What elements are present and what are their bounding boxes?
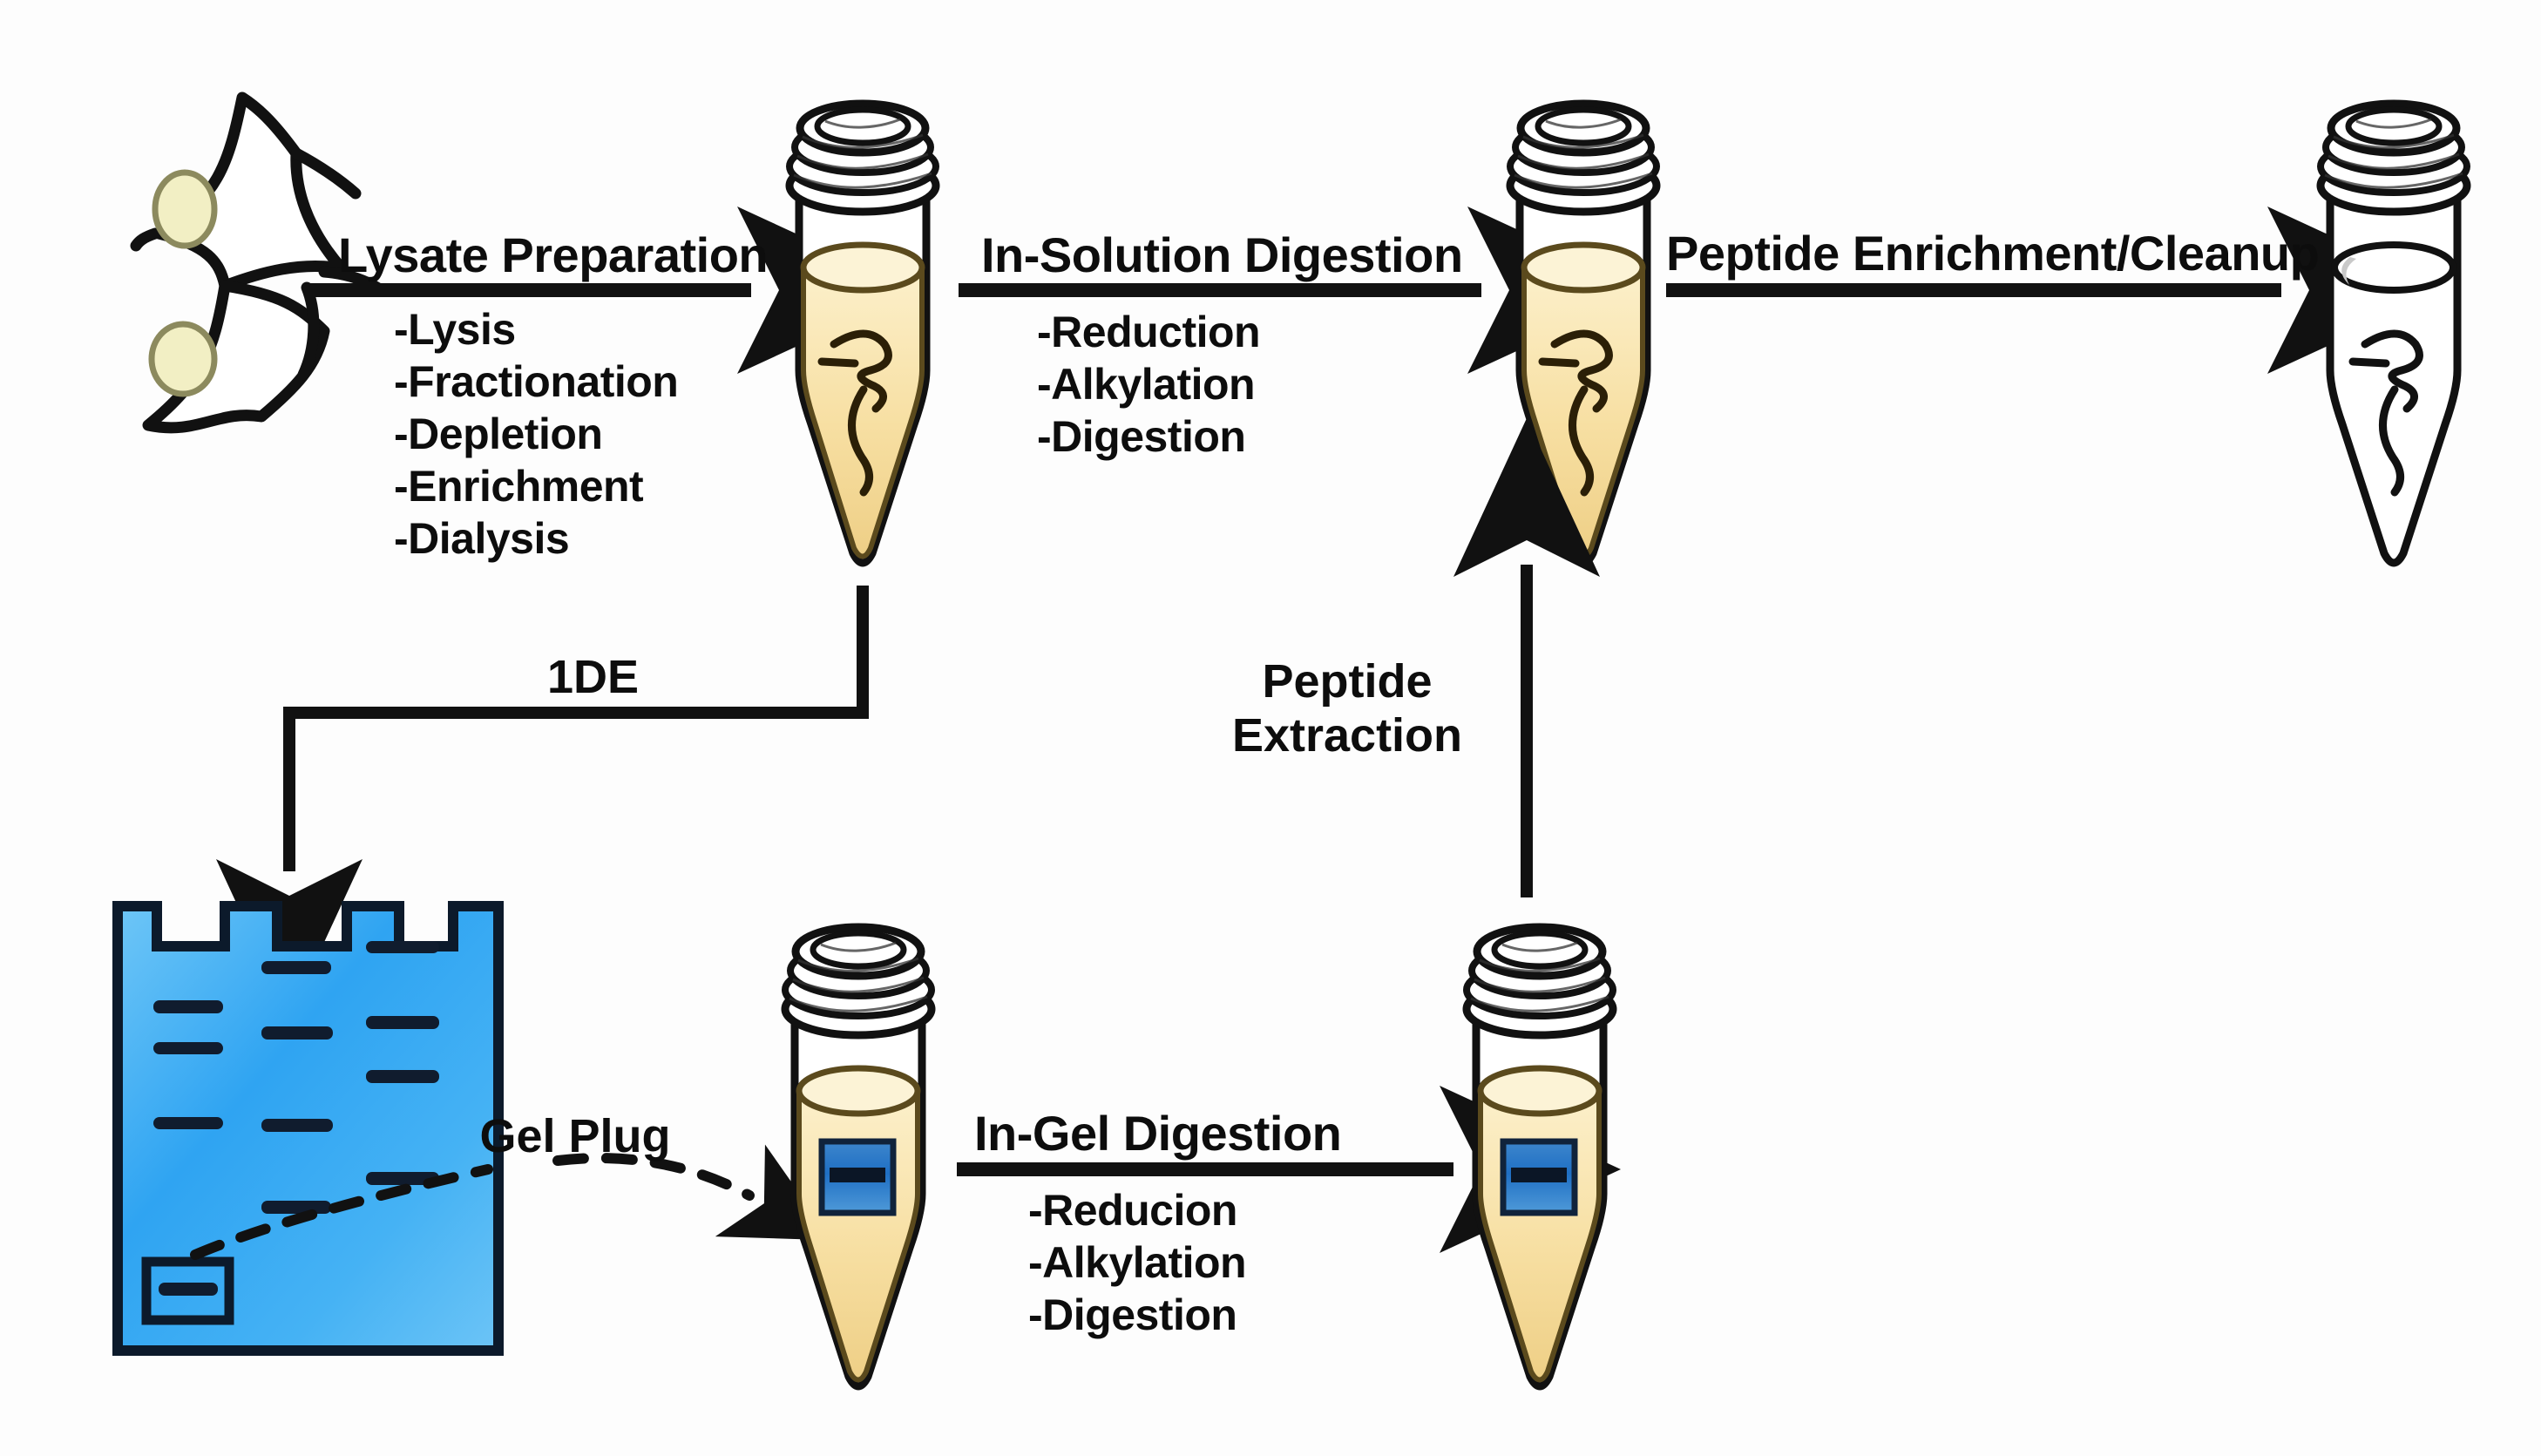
- microfuge-tube-lysate: [789, 104, 936, 563]
- gel-plug-icon: [1503, 1141, 1575, 1213]
- microfuge-tube-gel-plug-digested: [1467, 927, 1613, 1386]
- bullet-lysate-4: -Dialysis: [394, 514, 569, 563]
- bullet-ingel-1: -Alkylation: [1028, 1238, 1246, 1287]
- connector-1de: [289, 586, 863, 871]
- gel-plug-icon: [822, 1141, 893, 1213]
- sds-page-gel: [118, 906, 498, 1351]
- diagram-canvas: Lysate Preparation -Lysis -Fractionation…: [0, 0, 2541, 1456]
- bullet-lysate-1: -Fractionation: [394, 357, 678, 406]
- bullet-insolution-1: -Alkylation: [1037, 360, 1255, 409]
- connector-label-peptide-extraction-1: Peptide: [1262, 655, 1432, 708]
- step-title-in-solution: In-Solution Digestion: [981, 227, 1463, 282]
- step-title-in-gel: In-Gel Digestion: [974, 1106, 1341, 1161]
- bullet-lysate-0: -Lysis: [394, 305, 516, 354]
- bullet-insolution-0: -Reduction: [1037, 308, 1260, 356]
- bullet-lysate-2: -Depletion: [394, 410, 602, 458]
- bullet-ingel-2: -Digestion: [1028, 1290, 1237, 1339]
- microfuge-tube-clean-peptides: [2321, 104, 2467, 563]
- nucleus-icon: [152, 324, 214, 394]
- nucleus-icon: [155, 173, 214, 246]
- step-title-lysate: Lysate Preparation: [338, 227, 768, 282]
- workflow-diagram: Lysate Preparation -Lysis -Fractionation…: [0, 0, 2541, 1456]
- bullet-ingel-0: -Reducion: [1028, 1186, 1237, 1235]
- connector-label-gel-plug: Gel Plug: [479, 1110, 670, 1162]
- microfuge-tube-with-gel-plug: [785, 927, 932, 1386]
- step-title-cleanup: Peptide Enrichment/Cleanup: [1666, 226, 2319, 281]
- microfuge-tube-digested-peptides: [1510, 104, 1657, 563]
- connector-label-peptide-extraction-2: Extraction: [1232, 709, 1462, 762]
- connector-label-1de: 1DE: [547, 651, 639, 703]
- bullet-insolution-2: -Digestion: [1037, 412, 1245, 461]
- bullet-lysate-3: -Enrichment: [394, 462, 644, 511]
